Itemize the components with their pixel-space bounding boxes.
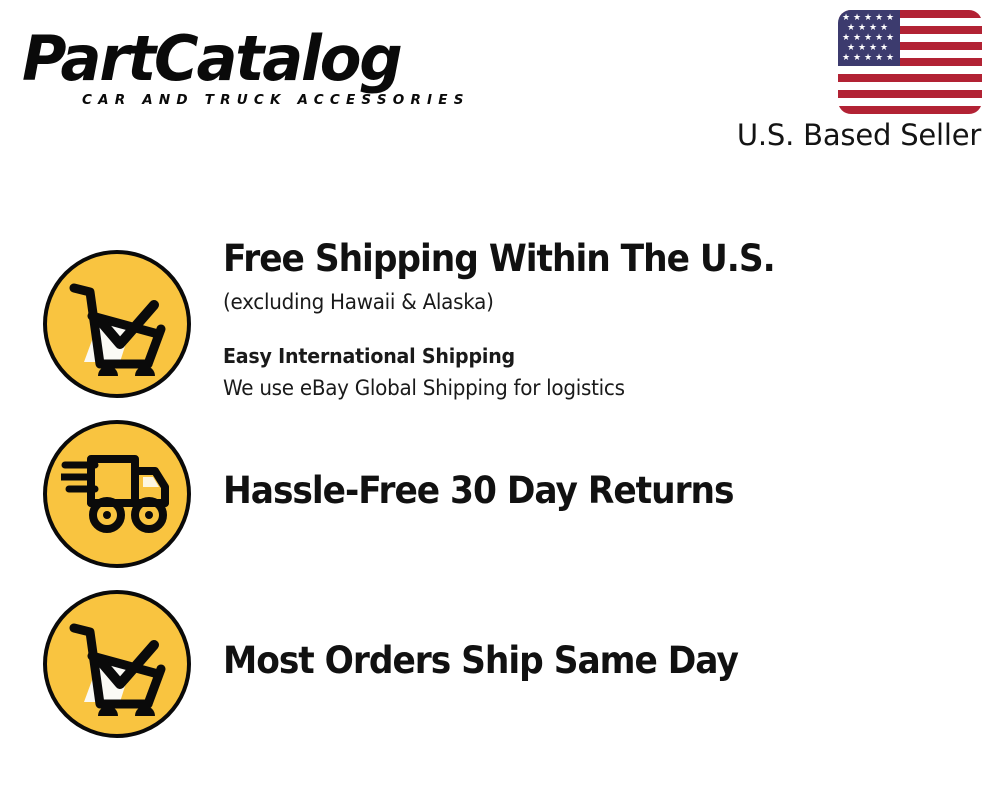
us-based-seller-label: U.S. Based Seller	[724, 118, 994, 152]
brand-wordmark: PartCatalog	[22, 24, 401, 94]
shopping-cart-check-icon	[43, 590, 191, 738]
brand-logo[interactable]: PartCatalog CAR AND TRUCK ACCESSORIES	[22, 24, 492, 114]
feature-heading: Most Orders Ship Same Day	[223, 638, 911, 684]
feature-row: Most Orders Ship Same Day	[0, 590, 1000, 742]
feature-text-block: Most Orders Ship Same Day	[223, 638, 963, 684]
flag-stripe	[838, 98, 982, 106]
feature-text-block: Hassle-Free 30 Day Returns	[223, 468, 963, 514]
flag-stripe	[838, 74, 982, 82]
feature-subtext: (excluding Hawaii & Alaska)	[223, 286, 926, 318]
feature-heading: Free Shipping Within The U.S.	[223, 236, 911, 282]
flag-stripe	[838, 82, 982, 90]
feature-subtext-bold: Easy International Shipping	[223, 340, 926, 372]
brand-tagline: CAR AND TRUCK ACCESSORIES	[82, 92, 470, 108]
flag-stripe	[838, 106, 982, 114]
shopping-cart-check-icon	[43, 250, 191, 398]
feature-row: Free Shipping Within The U.S. (excluding…	[0, 250, 1000, 402]
delivery-truck-icon	[43, 420, 191, 568]
feature-subtext: We use eBay Global Shipping for logistic…	[223, 372, 926, 404]
header-banner: PartCatalog CAR AND TRUCK ACCESSORIES ★ …	[0, 0, 1000, 170]
flag-canton: ★ ★ ★ ★ ★ ★ ★ ★ ★ ★ ★ ★ ★ ★ ★ ★ ★ ★ ★ ★ …	[838, 10, 900, 66]
feature-row: Hassle-Free 30 Day Returns	[0, 420, 1000, 572]
flag-stripe	[838, 66, 982, 74]
flag-stripe	[838, 90, 982, 98]
us-flag-icon: ★ ★ ★ ★ ★ ★ ★ ★ ★ ★ ★ ★ ★ ★ ★ ★ ★ ★ ★ ★ …	[838, 10, 982, 114]
feature-heading: Hassle-Free 30 Day Returns	[223, 468, 911, 514]
feature-text-block: Free Shipping Within The U.S. (excluding…	[223, 236, 963, 404]
